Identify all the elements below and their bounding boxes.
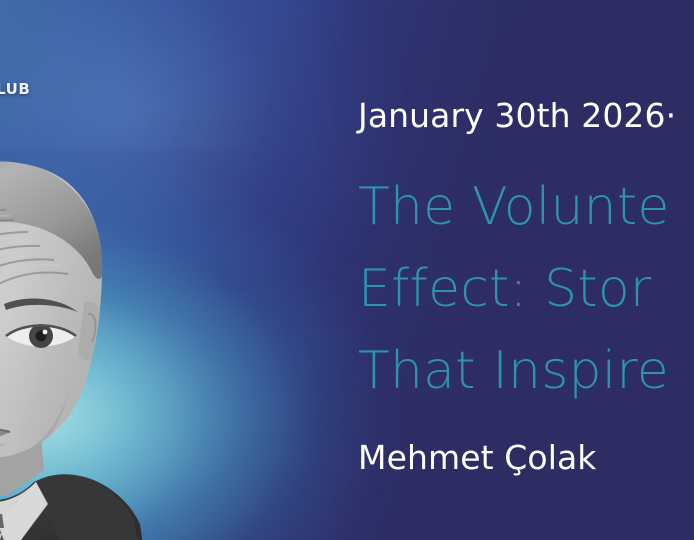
- speaker-name: Mehmet Çolak: [358, 438, 597, 477]
- event-date: January 30th 2026·: [358, 96, 676, 135]
- talk-title-line-2: Effect: Stor: [358, 248, 694, 330]
- event-promo-banner: LUB January 30th 2026· The Volunte Effec…: [0, 0, 694, 540]
- speaker-portrait-image: [0, 152, 218, 540]
- talk-title: The Volunte Effect: Stor That Inspire: [358, 166, 694, 412]
- talk-title-line-1: The Volunte: [358, 166, 694, 248]
- club-logo-text: LUB: [0, 80, 30, 98]
- talk-title-line-3: That Inspire: [358, 330, 694, 412]
- banner-text-column: January 30th 2026· The Volunte Effect: S…: [358, 0, 694, 540]
- speaker-portrait: [0, 152, 218, 540]
